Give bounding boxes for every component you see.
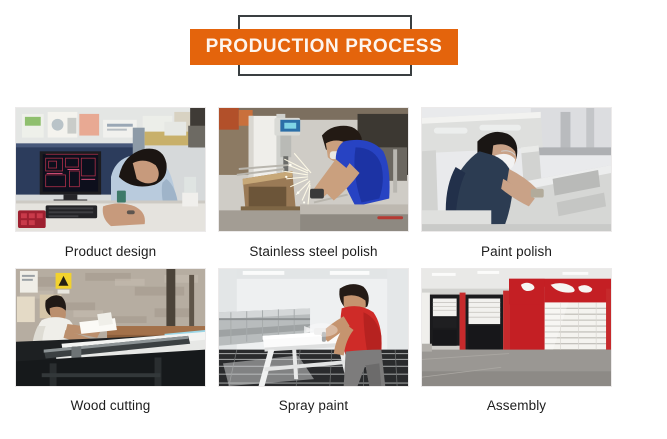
stainless-steel-polish-image[interactable] — [218, 107, 409, 232]
spray-paint-illustration — [219, 269, 408, 386]
gallery-row-1: Product design — [15, 107, 612, 268]
caption-paint-polish: Paint polish — [421, 232, 612, 268]
gallery-item-paint-polish[interactable]: Paint polish — [421, 107, 612, 268]
title-banner: PRODUCTION PROCESS — [190, 29, 458, 65]
gallery-item-assembly[interactable]: Assembly — [421, 268, 612, 413]
caption-stainless-steel-polish: Stainless steel polish — [218, 232, 409, 268]
product-design-image[interactable] — [15, 107, 206, 232]
paint-polish-image[interactable] — [421, 107, 612, 232]
gallery-item-product-design[interactable]: Product design — [15, 107, 206, 268]
gallery-item-stainless-steel-polish[interactable]: Stainless steel polish — [218, 107, 409, 268]
stainless-steel-polish-illustration — [219, 108, 408, 231]
gallery-item-wood-cutting[interactable]: Wood cutting — [15, 268, 206, 413]
caption-assembly: Assembly — [421, 387, 612, 413]
wood-cutting-image[interactable] — [15, 268, 206, 387]
gallery-row-2: Wood cutting — [15, 268, 612, 413]
assembly-illustration — [422, 269, 611, 386]
wood-cutting-illustration — [16, 269, 205, 386]
process-gallery: Product design — [15, 107, 612, 413]
paint-polish-illustration — [422, 108, 611, 231]
spray-paint-image[interactable] — [218, 268, 409, 387]
caption-spray-paint: Spray paint — [218, 387, 409, 413]
assembly-image[interactable] — [421, 268, 612, 387]
gallery-item-spray-paint[interactable]: Spray paint — [218, 268, 409, 413]
caption-product-design: Product design — [15, 232, 206, 268]
product-design-illustration — [16, 108, 205, 231]
page-header: PRODUCTION PROCESS — [0, 0, 667, 96]
caption-wood-cutting: Wood cutting — [15, 387, 206, 413]
page-title: PRODUCTION PROCESS — [206, 36, 443, 58]
